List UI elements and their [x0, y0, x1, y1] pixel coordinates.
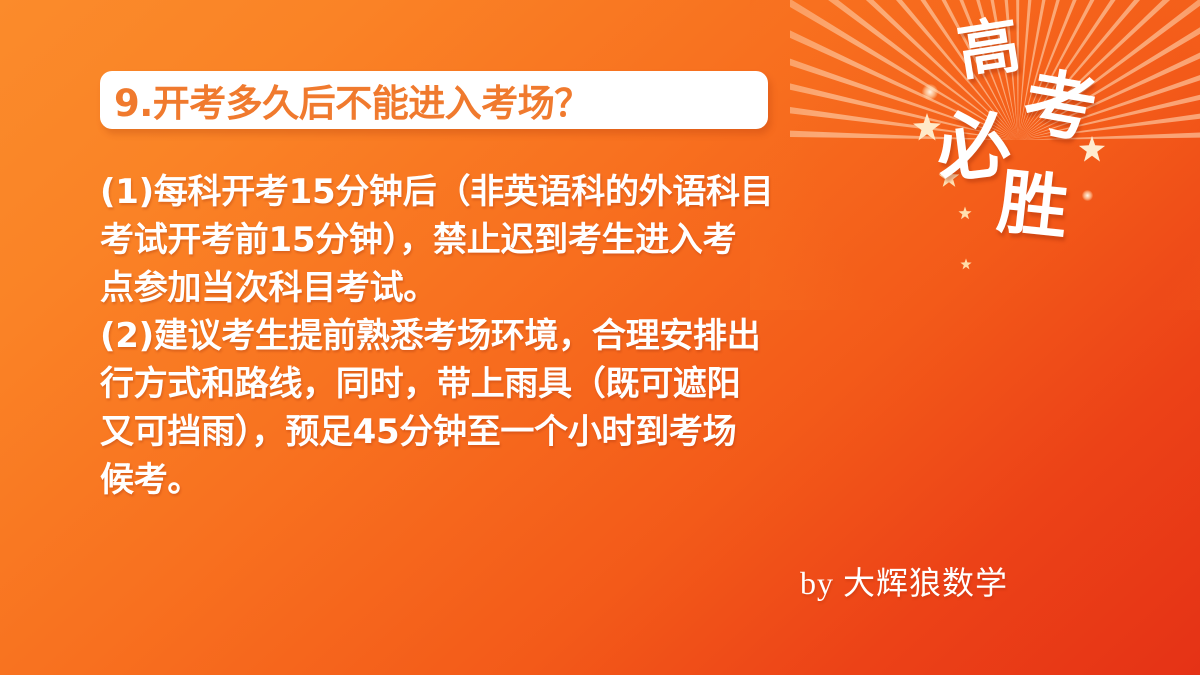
body-line: 候考。 — [100, 456, 920, 504]
body-line: 点参加当次科目考试。 — [100, 264, 920, 312]
sparkle-star-icon — [960, 258, 972, 270]
slide-canvas: 高 考 必 胜 9.开考多久后不能进入考场？ (1)每科开考15分钟后（非英语科… — [0, 0, 1200, 675]
body-line: 行方式和路线，同时，带上雨具（既可遮阳 — [100, 360, 920, 408]
glow-dot-icon — [922, 84, 938, 100]
body-line: (1)每科开考15分钟后（非英语科的外语科目 — [100, 168, 920, 216]
page-title: 9.开考多久后不能进入考场？ — [114, 73, 591, 127]
art-word-char: 必 — [932, 106, 1014, 188]
author-signature: by 大辉狼数学 — [800, 558, 1008, 604]
body-line: 又可挡雨），预足45分钟至一个小时到考场 — [100, 408, 920, 456]
sparkle-star-icon — [958, 206, 972, 220]
title-banner: 9.开考多久后不能进入考场？ — [100, 71, 768, 129]
art-word-gaokao-bisheng: 高 考 必 胜 — [928, 18, 1118, 268]
sparkle-star-icon — [938, 166, 960, 188]
body-line: (2)建议考生提前熟悉考场环境，合理安排出 — [100, 312, 920, 360]
sparkle-star-icon — [1078, 135, 1106, 163]
art-word-char: 考 — [1018, 64, 1101, 147]
art-word-char: 高 — [954, 14, 1025, 85]
body-line: 考试开考前15分钟），禁止迟到考生进入考 — [100, 216, 920, 264]
sparkle-star-icon — [912, 112, 942, 142]
body-text-block: (1)每科开考15分钟后（非英语科的外语科目 考试开考前15分钟），禁止迟到考生… — [100, 168, 920, 504]
art-word-char: 胜 — [995, 167, 1072, 244]
glow-dot-icon — [1082, 190, 1093, 201]
